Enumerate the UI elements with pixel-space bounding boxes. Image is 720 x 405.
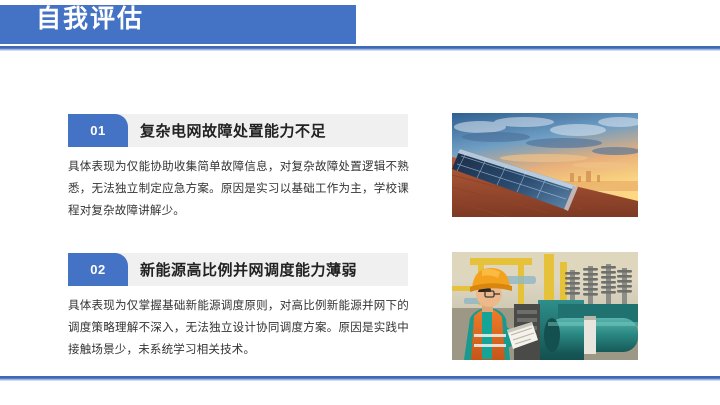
block-1-title: 复杂电网故障处置能力不足 xyxy=(140,114,326,147)
header-divider-rule xyxy=(0,46,720,51)
block-2-body-text: 具体表现为仅掌握基础新能源调度原则，对高比例新能源并网下的调度策略理解不深入，无… xyxy=(68,295,409,361)
block-1-body-text: 具体表现为仅能协助收集简单故障信息，对复杂故障处置逻辑不熟悉，无法独立制定应急方… xyxy=(68,156,409,222)
block-1-title-row: 01 复杂电网故障处置能力不足 xyxy=(68,114,408,147)
assessment-block-2: 02 新能源高比例并网调度能力薄弱 具体表现为仅掌握基础新能源调度原则，对高比例… xyxy=(68,253,408,286)
block-2-title: 新能源高比例并网调度能力薄弱 xyxy=(140,253,357,286)
engineer-inspection-illustration xyxy=(452,252,638,360)
footer-divider-rule xyxy=(0,376,720,381)
solar-panel-sunset-illustration xyxy=(452,113,638,217)
solar-panel-sunset-photo xyxy=(452,113,638,217)
block-1-number-badge: 01 xyxy=(68,114,128,147)
slide-root: 自我评估 01 复杂电网故障处置能力不足 具体表现为仅能协助收集简单故障信息，对… xyxy=(0,0,720,405)
assessment-block-1: 01 复杂电网故障处置能力不足 具体表现为仅能协助收集简单故障信息，对复杂故障处… xyxy=(68,114,408,147)
block-2-title-row: 02 新能源高比例并网调度能力薄弱 xyxy=(68,253,408,286)
page-title: 自我评估 xyxy=(36,6,144,33)
block-2-number-badge: 02 xyxy=(68,253,128,286)
engineer-inspection-photo xyxy=(452,252,638,360)
